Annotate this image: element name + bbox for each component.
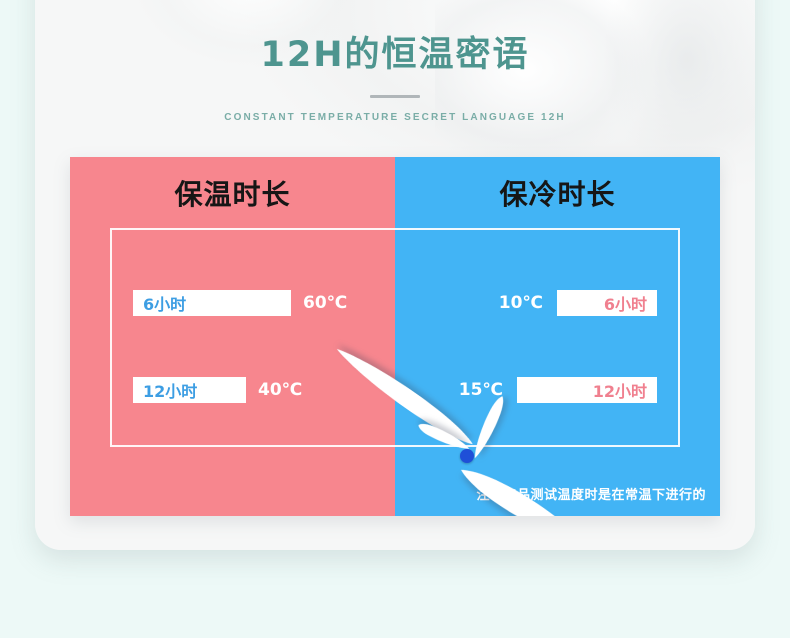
cold-retention-title: 保冷时长 <box>395 173 720 213</box>
cold-duration-box-1: 6小时 <box>557 290 657 316</box>
page-header: 12H的恒温密语 CONSTANT TEMPERATURE SECRET LAN… <box>0 0 790 123</box>
cold-retention-panel: 保冷时长 10℃ 6小时 15℃ 12小时 注：产品测试温度时是在常温下进行的 <box>395 157 720 516</box>
heat-temperature-1: 60℃ <box>303 293 347 313</box>
cold-duration-box-2: 12小时 <box>517 377 657 403</box>
heat-retention-title: 保温时长 <box>70 173 395 213</box>
cold-retention-row-1: 10℃ 6小时 <box>499 290 657 316</box>
heat-retention-panel: 保温时长 6小时 60℃ 12小时 40℃ <box>70 157 395 516</box>
heat-retention-row-1: 6小时 60℃ <box>133 290 347 316</box>
cold-temperature-1: 10℃ <box>499 293 543 313</box>
title-divider <box>370 95 420 98</box>
page-title: 12H的恒温密语 <box>0 0 790 77</box>
clock-center-hub-icon <box>460 449 474 463</box>
heat-retention-inner-frame <box>110 228 395 447</box>
heat-temperature-2: 40℃ <box>258 380 302 400</box>
heat-duration-box-1: 6小时 <box>133 290 291 316</box>
heat-duration-box-2: 12小时 <box>133 377 246 403</box>
comparison-card: 保温时长 6小时 60℃ 12小时 40℃ 保冷时长 10℃ 6小时 15℃ 1… <box>70 157 720 516</box>
page-subtitle: CONSTANT TEMPERATURE SECRET LANGUAGE 12H <box>0 112 790 123</box>
cold-retention-row-2: 15℃ 12小时 <box>459 377 657 403</box>
heat-retention-row-2: 12小时 40℃ <box>133 377 302 403</box>
